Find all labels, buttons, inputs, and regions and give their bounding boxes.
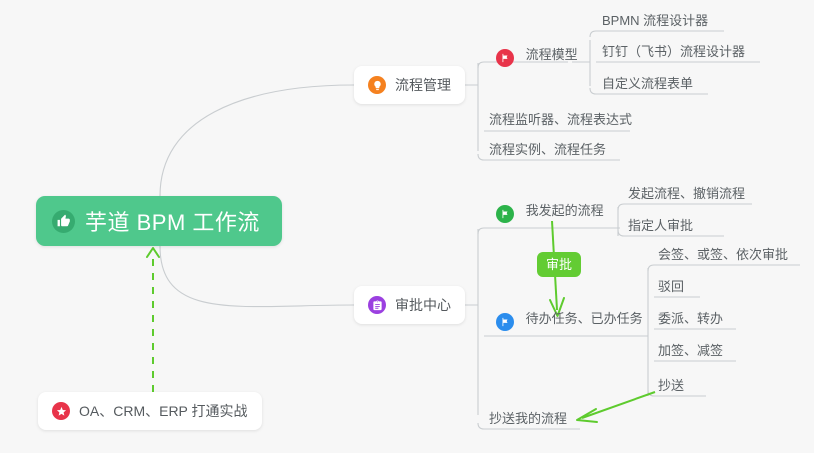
branch-node-shenpi-zhongxin[interactable]: 审批中心 [354, 286, 465, 324]
callout-shenpi-label: 审批 [546, 257, 572, 272]
wire-shenpi-corner-bot [478, 423, 484, 429]
dashed-arrow-oa-to-root [147, 248, 159, 392]
thumbs-up-icon [52, 210, 75, 233]
leaf-bohui[interactable]: 驳回 [658, 280, 684, 293]
leaf-dingding-designer[interactable]: 钉钉（飞书）流程设计器 [602, 45, 745, 58]
leaf-custom-form[interactable]: 自定义流程表单 [602, 77, 693, 90]
leaf-liucheng-shili[interactable]: 流程实例、流程任务 [489, 143, 606, 156]
branch-label-shenpi-zhongxin: 审批中心 [395, 295, 451, 315]
leaf-daiban-renwu-wrap[interactable]: 待办任务、已办任务 [496, 312, 643, 331]
wire-liucheng-spine-corner-top [478, 62, 484, 68]
leaf-label-daiban-renwu: 待办任务、已办任务 [526, 311, 643, 326]
callout-shenpi: 审批 [537, 252, 581, 277]
leaf-label-chaosong-wode-liucheng: 抄送我的流程 [489, 411, 567, 426]
leaf-liucheng-jiantingqi[interactable]: 流程监听器、流程表达式 [489, 113, 632, 126]
flag-icon [496, 313, 514, 331]
lightbulb-icon [368, 76, 386, 94]
leaf-weipai-zhuanban[interactable]: 委派、转办 [658, 312, 723, 325]
wire-root-to-liucheng [160, 85, 354, 196]
leaf-label-chaosong: 抄送 [658, 378, 684, 393]
leaf-jiaqian-jianqian[interactable]: 加签、减签 [658, 344, 723, 357]
wire-wofaqi-corner-bot [618, 230, 624, 236]
leaf-label-custom-form: 自定义流程表单 [602, 76, 693, 91]
root-node[interactable]: 芋道 BPM 工作流 [36, 196, 282, 246]
leaf-label-liucheng-moxing: 流程模型 [526, 47, 578, 62]
leaf-chaosong-wode-liucheng[interactable]: 抄送我的流程 [489, 412, 567, 425]
leaf-label-jiaqian-jianqian: 加签、减签 [658, 343, 723, 358]
note-label-oa-crm-erp: OA、CRM、ERP 打通实战 [79, 401, 248, 421]
arrow-chaosong-to-chaosongwode [577, 392, 655, 422]
clipboard-icon [368, 296, 386, 314]
flag-icon [496, 49, 514, 67]
leaf-zhidingren-shenpi[interactable]: 指定人审批 [628, 219, 693, 232]
leaf-faqi-chexiao[interactable]: 发起流程、撤销流程 [628, 187, 745, 200]
leaf-wo-faqi-de-liucheng-wrap[interactable]: 我发起的流程 [496, 204, 604, 223]
leaf-label-bpmn-designer: BPMN 流程设计器 [602, 13, 708, 28]
branch-node-liucheng-guanli[interactable]: 流程管理 [354, 66, 465, 104]
wire-daiban-corner-top [648, 265, 654, 271]
flag-icon [496, 205, 514, 223]
leaf-bpmn-designer[interactable]: BPMN 流程设计器 [602, 14, 708, 27]
leaf-label-huiqian-huoqian: 会签、或签、依次审批 [658, 247, 788, 262]
branch-label-liucheng-guanli: 流程管理 [395, 75, 451, 95]
leaf-label-faqi-chexiao: 发起流程、撤销流程 [628, 186, 745, 201]
leaf-label-liucheng-jiantingqi: 流程监听器、流程表达式 [489, 112, 632, 127]
wire-daiban-corner-bot [648, 390, 654, 396]
leaf-huiqian-huoqian[interactable]: 会签、或签、依次审批 [658, 248, 788, 261]
leaf-chaosong[interactable]: 抄送 [658, 379, 684, 392]
mindmap-canvas: 芋道 BPM 工作流 流程管理 审批中心 OA、CRM、ERP 打通实战 [0, 0, 814, 453]
root-label: 芋道 BPM 工作流 [85, 205, 260, 237]
star-icon [52, 402, 70, 420]
wire-moxing-corner-top [590, 31, 596, 37]
wire-moxing-corner-bot [590, 88, 596, 94]
leaf-label-bohui: 驳回 [658, 279, 684, 294]
leaf-label-weipai-zhuanban: 委派、转办 [658, 311, 723, 326]
wire-shenpi-corner-top [478, 228, 484, 234]
wire-root-to-shenpi [160, 246, 354, 307]
leaf-label-wo-faqi-de-liucheng: 我发起的流程 [526, 203, 604, 218]
leaf-label-zhidingren-shenpi: 指定人审批 [628, 218, 693, 233]
leaf-liucheng-moxing-wrap[interactable]: 流程模型 [496, 48, 578, 67]
wire-liucheng-spine-corner-bot [478, 154, 484, 160]
leaf-label-liucheng-shili: 流程实例、流程任务 [489, 142, 606, 157]
note-node-oa-crm-erp[interactable]: OA、CRM、ERP 打通实战 [38, 392, 262, 430]
wire-wofaqi-corner-top [618, 204, 624, 210]
leaf-label-dingding-designer: 钉钉（飞书）流程设计器 [602, 44, 745, 59]
